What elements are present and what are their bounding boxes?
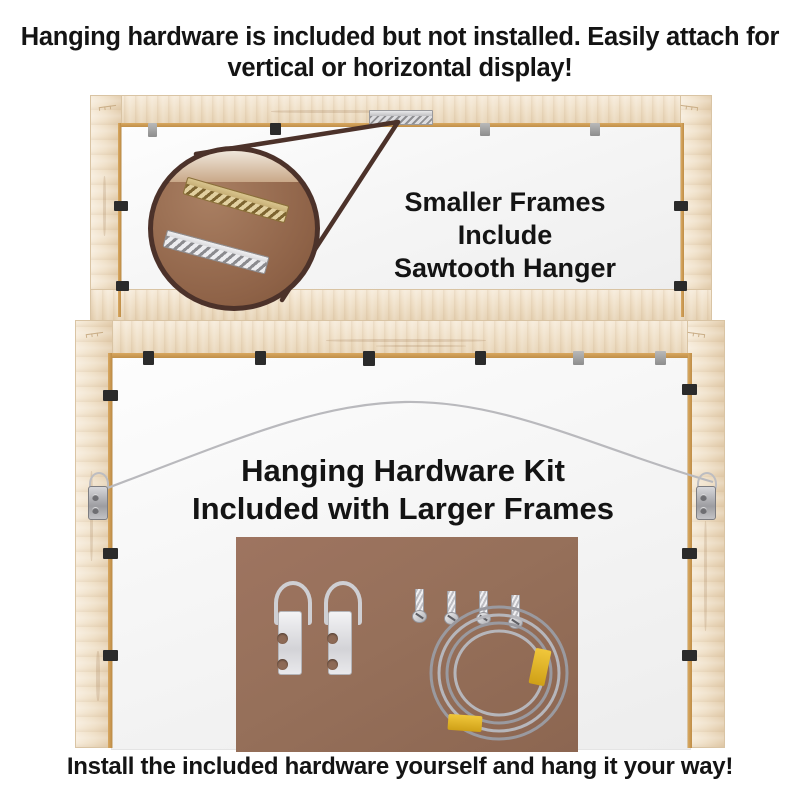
upper-callout-line-2: Include (360, 219, 650, 252)
infographic-canvas: Hanging hardware is included but not ins… (0, 0, 800, 800)
backing-clip (143, 351, 154, 365)
kit-d-ring-hanger-icon (272, 581, 306, 673)
kit-d-ring-hanger-icon (322, 581, 356, 673)
headline-text: Hanging hardware is included but not ins… (0, 22, 800, 84)
kit-wire-coil-icon (424, 599, 574, 747)
footer-text: Install the included hardware yourself a… (0, 752, 800, 782)
lower-callout-line-1: Hanging Hardware Kit (148, 452, 658, 490)
backing-clip (573, 351, 584, 365)
d-ring-hanger-icon (694, 472, 716, 518)
backing-clip (475, 351, 486, 365)
sawtooth-hanger-brass-icon (183, 177, 290, 224)
upper-callout-line-1: Smaller Frames (360, 186, 650, 219)
backing-clip (103, 650, 118, 661)
backing-clip (363, 351, 375, 366)
lower-frame-inner-lip (111, 353, 689, 358)
hardware-kit-photo (236, 537, 578, 752)
lower-callout-line-2: Included with Larger Frames (148, 490, 658, 528)
d-ring-hanger-icon (86, 472, 108, 518)
backing-clip (255, 351, 266, 365)
wire-tape-band (447, 714, 482, 732)
lower-frame-callout-text: Hanging Hardware Kit Included with Large… (148, 452, 658, 528)
magnifier-circle-icon (148, 146, 320, 311)
upper-callout-line-3: Sawtooth Hanger (360, 252, 650, 285)
upper-frame-callout-text: Smaller Frames Include Sawtooth Hanger (360, 186, 650, 285)
backing-clip (682, 548, 697, 559)
backing-clip (655, 351, 666, 365)
corner-joint-mark-icon: ⌐⌐⌐ (84, 327, 102, 340)
corner-joint-mark-icon: ⌐⌐⌐ (688, 327, 706, 340)
sawtooth-hanger-silver-icon (162, 230, 269, 275)
backing-clip (682, 650, 697, 661)
backing-clip (103, 548, 118, 559)
